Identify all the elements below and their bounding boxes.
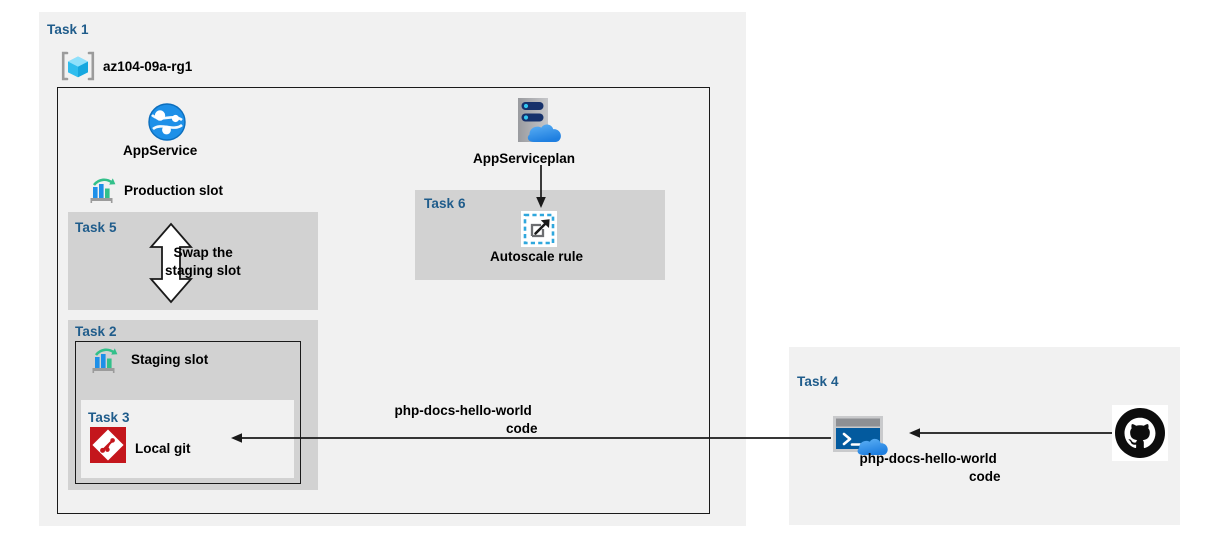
github-octocat-icon (1112, 405, 1168, 461)
cloudshell-to-localgit-label-line2: code (506, 420, 538, 437)
github-to-cloudshell-label-line1: php-docs-hello-world (860, 450, 997, 467)
task1-label: Task 1 (47, 22, 89, 37)
autoscale-rule-label: Autoscale rule (490, 248, 583, 265)
local-git-label: Local git (135, 440, 191, 457)
task6-label: Task 6 (424, 196, 466, 211)
swap-label-line2: staging slot (165, 262, 241, 279)
autoscale-rule-icon (521, 211, 557, 247)
app-service-label: AppService (123, 142, 197, 159)
app-service-plan-icon (510, 96, 572, 150)
app-service-globe-icon (147, 102, 187, 142)
swap-label-line1: Swap the (174, 244, 233, 261)
app-service-plan-label: AppServiceplan (473, 150, 575, 167)
resource-group-cube-icon (60, 48, 96, 84)
deployment-slot-icon (90, 346, 120, 374)
production-slot-label: Production slot (124, 182, 223, 199)
staging-slot-label: Staging slot (131, 351, 208, 368)
github-to-cloudshell-label-line2: code (969, 468, 1001, 485)
task3-label: Task 3 (88, 410, 130, 425)
task5-label: Task 5 (75, 220, 117, 235)
task2-label: Task 2 (75, 324, 117, 339)
diagram-canvas: Task 1 az104-09a-rg1 AppService (0, 0, 1218, 545)
task4-label: Task 4 (797, 374, 839, 389)
cloudshell-to-localgit-label-line1: php-docs-hello-world (395, 402, 532, 419)
git-icon (90, 427, 126, 463)
deployment-slot-icon (88, 176, 118, 204)
resource-group-label: az104-09a-rg1 (103, 58, 192, 75)
